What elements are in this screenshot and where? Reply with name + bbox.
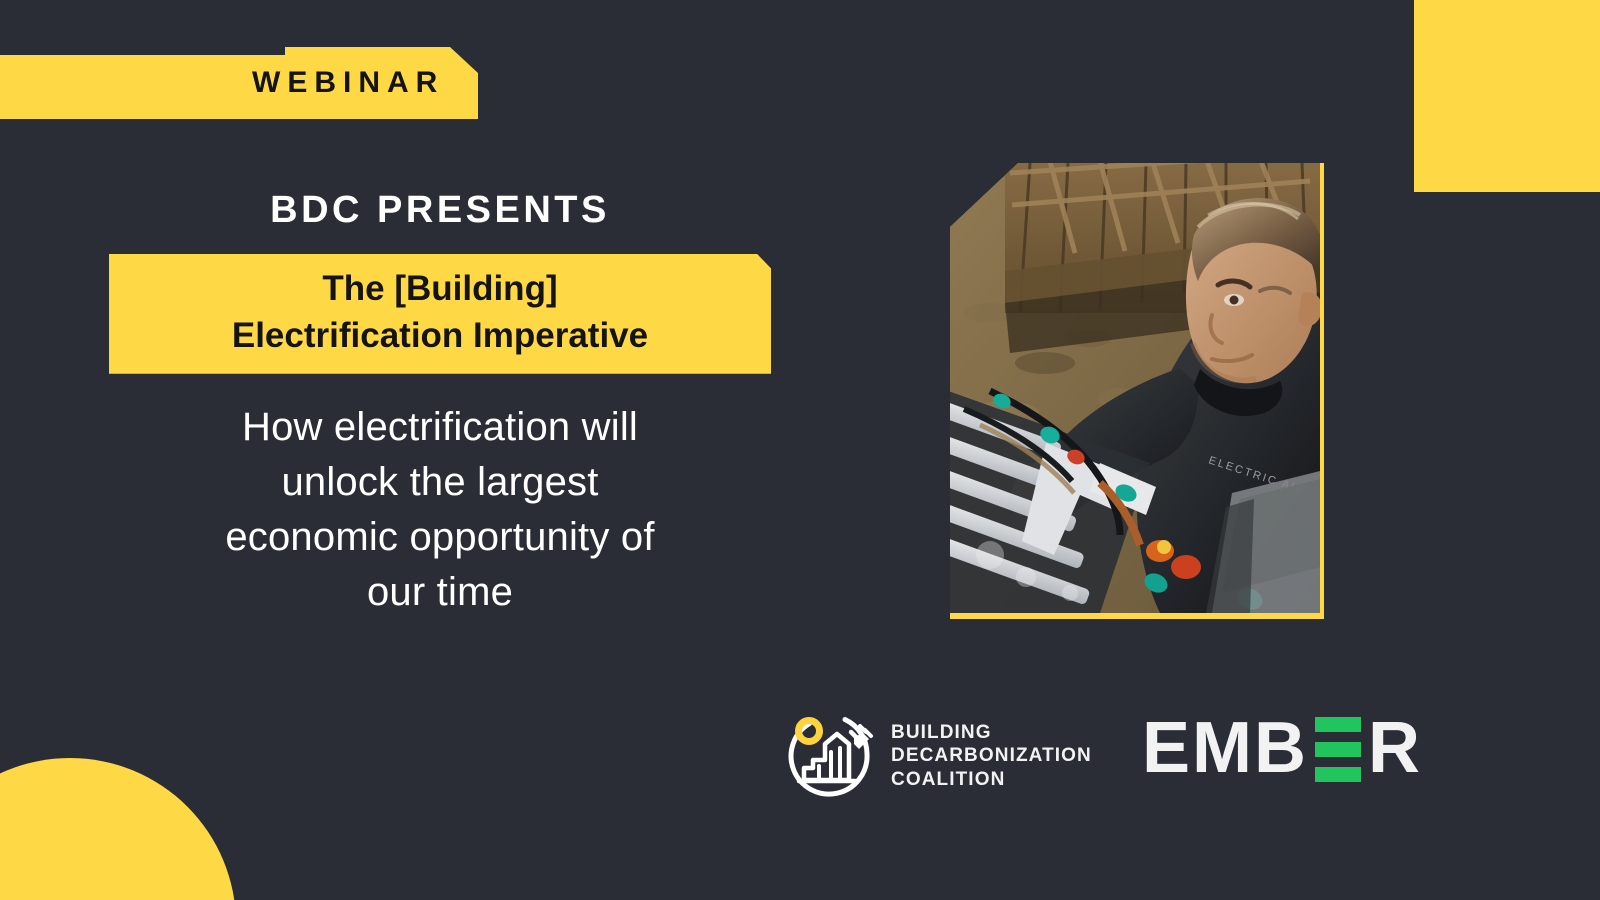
ember-wordmark-suffix: R	[1368, 712, 1422, 784]
title-line-2: Electrification Imperative	[232, 313, 648, 360]
eyebrow-heading: BDC PRESENTS	[0, 190, 880, 232]
subtitle-block: How electrification will unlock the larg…	[0, 400, 880, 621]
bottom-left-yellow-circle	[0, 758, 236, 900]
bdc-wordmark-line-3: COALITION	[891, 770, 1092, 791]
content-column: BDC PRESENTS The [Building] Electrificat…	[0, 190, 930, 621]
webinar-ribbon: WEBINAR	[0, 47, 478, 119]
webinar-promo-slide: WEBINAR BDC PRESENTS The [Building] Elec…	[0, 0, 1600, 900]
bdc-wordmark: BUILDING DECARBONIZATION COALITION	[891, 723, 1092, 791]
title-line-1: The [Building]	[322, 266, 557, 313]
title-plate-wrap: The [Building] Electrification Imperativ…	[0, 254, 880, 374]
ember-bar-middle	[1315, 742, 1361, 757]
ember-logo: EMB R	[1142, 712, 1422, 784]
technician-photo: ELECTRIC AIR	[950, 163, 1320, 613]
logo-row: BUILDING DECARBONIZATION COALITION EMB R	[780, 700, 1480, 810]
subtitle-line-3: economic opportunity of	[0, 510, 880, 565]
subtitle-line-1: How electrification will	[0, 400, 880, 455]
top-right-yellow-block	[1414, 0, 1600, 192]
bdc-circle-building-plug-icon	[785, 708, 877, 805]
ember-bar-bottom	[1315, 767, 1361, 782]
subtitle-line-2: unlock the largest	[0, 455, 880, 510]
ember-e-bars-icon	[1315, 717, 1361, 782]
subtitle-line-4: our time	[0, 565, 880, 620]
bdc-wordmark-line-2: DECARBONIZATION	[891, 746, 1092, 767]
photo-frame: ELECTRIC AIR	[950, 163, 1324, 619]
ember-wordmark: EMB R	[1142, 712, 1422, 784]
bdc-wordmark-line-1: BUILDING	[891, 723, 1092, 744]
ember-bar-top	[1315, 717, 1361, 732]
webinar-ribbon-label: WEBINAR	[252, 68, 444, 98]
bdc-logo: BUILDING DECARBONIZATION COALITION	[785, 708, 1092, 805]
title-plate: The [Building] Electrification Imperativ…	[109, 254, 771, 374]
ember-wordmark-prefix: EMB	[1142, 712, 1308, 784]
